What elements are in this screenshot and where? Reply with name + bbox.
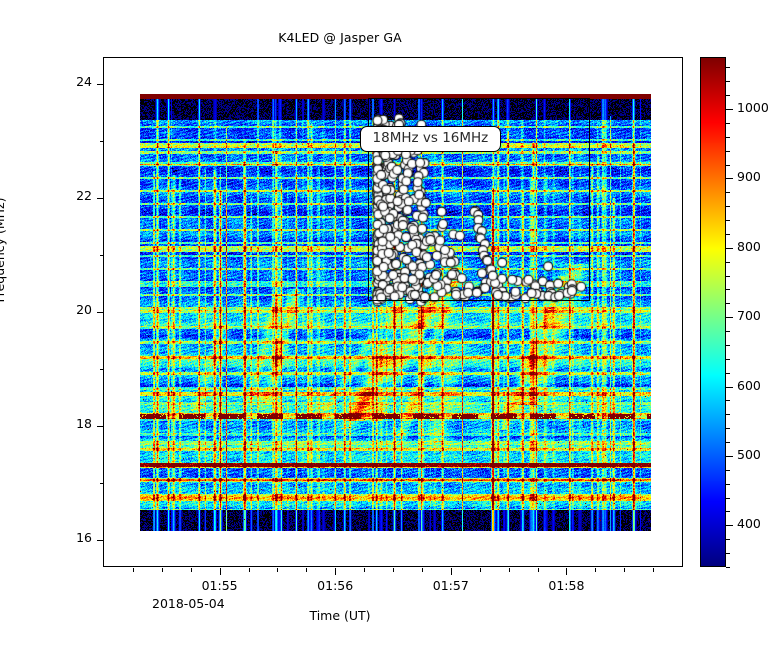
colorbar-tick-major — [726, 456, 733, 457]
x-tick-minor — [538, 568, 539, 572]
x-tick-label: 01:56 — [295, 578, 375, 593]
y-tick-label: 18 — [52, 416, 92, 431]
x-tick-label: 01:58 — [526, 578, 606, 593]
y-tick-major — [97, 312, 104, 313]
x-tick-minor — [277, 568, 278, 572]
x-tick-major — [451, 568, 452, 575]
colorbar-tick-minor — [726, 165, 730, 166]
colorbar-tick-minor — [726, 484, 730, 485]
y-tick-minor — [100, 483, 104, 484]
colorbar-tick-minor — [726, 553, 730, 554]
colorbar-tick-label: 500 — [737, 447, 761, 462]
colorbar-tick-label: 700 — [737, 308, 761, 323]
colorbar-tick-major — [726, 178, 733, 179]
annotation-label: 18MHz vs 16MHz — [360, 126, 502, 153]
colorbar-tick-minor — [726, 470, 730, 471]
colorbar-tick-minor — [726, 276, 730, 277]
colorbar-tick-minor — [726, 498, 730, 499]
colorbar-tick-minor — [726, 345, 730, 346]
colorbar-tick-minor — [726, 95, 730, 96]
x-tick-minor — [162, 568, 163, 572]
colorbar-tick-label: 400 — [737, 516, 761, 531]
x-tick-minor — [509, 568, 510, 572]
y-tick-minor — [100, 141, 104, 142]
page-title: K4LED @ Jasper GA — [0, 30, 680, 45]
colorbar-tick-label: 800 — [737, 239, 761, 254]
colorbar-tick-minor — [726, 81, 730, 82]
colorbar-tick-minor — [726, 137, 730, 138]
y-tick-major — [97, 198, 104, 199]
colorbar-tick-minor — [726, 289, 730, 290]
y-tick-label: 22 — [52, 188, 92, 203]
colorbar-tick-minor — [726, 400, 730, 401]
x-tick-minor — [595, 568, 596, 572]
colorbar-tick-minor — [726, 262, 730, 263]
x-tick-minor — [422, 568, 423, 572]
x-tick-minor — [133, 568, 134, 572]
colorbar[interactable] — [700, 57, 726, 567]
x-tick-minor — [480, 568, 481, 572]
colorbar-tick-minor — [726, 414, 730, 415]
colorbar-tick-minor — [726, 539, 730, 540]
colorbar-tick-major — [726, 109, 733, 110]
colorbar-tick-minor — [726, 151, 730, 152]
x-tick-major — [220, 568, 221, 575]
y-tick-minor — [100, 369, 104, 370]
colorbar-tick-minor — [726, 234, 730, 235]
x-tick-minor — [393, 568, 394, 572]
x-tick-minor — [653, 568, 654, 572]
x-tick-major — [335, 568, 336, 575]
y-tick-label: 16 — [52, 530, 92, 545]
y-tick-minor — [100, 255, 104, 256]
y-tick-label: 20 — [52, 302, 92, 317]
colorbar-tick-minor — [726, 303, 730, 304]
figure-canvas: K4LED @ Jasper GA 18MHz vs 16MHz 1618202… — [0, 0, 783, 656]
x-tick-minor — [249, 568, 250, 572]
x-tick-minor — [364, 568, 365, 572]
colorbar-tick-minor — [726, 442, 730, 443]
colorbar-tick-major — [726, 525, 733, 526]
x-axis-date-label: 2018-05-04 — [152, 596, 225, 611]
x-axis-title: Time (UT) — [0, 608, 680, 623]
colorbar-tick-major — [726, 248, 733, 249]
y-tick-major — [97, 84, 104, 85]
x-tick-label: 01:55 — [180, 578, 260, 593]
colorbar-tick-minor — [726, 192, 730, 193]
colorbar-tick-minor — [726, 428, 730, 429]
x-tick-minor — [624, 568, 625, 572]
y-tick-label: 24 — [52, 74, 92, 89]
colorbar-tick-minor — [726, 220, 730, 221]
y-tick-major — [97, 540, 104, 541]
x-tick-minor — [191, 568, 192, 572]
y-axis-title: Frequency (MHz) — [0, 160, 7, 340]
colorbar-tick-label: 900 — [737, 169, 761, 184]
colorbar-tick-minor — [726, 373, 730, 374]
x-tick-label: 01:57 — [411, 578, 491, 593]
y-tick-major — [97, 426, 104, 427]
colorbar-tick-minor — [726, 567, 730, 568]
colorbar-tick-major — [726, 387, 733, 388]
plot-area[interactable]: 18MHz vs 16MHz — [103, 57, 683, 567]
x-tick-major — [566, 568, 567, 575]
colorbar-tick-minor — [726, 359, 730, 360]
colorbar-tick-minor — [726, 123, 730, 124]
colorbar-tick-minor — [726, 511, 730, 512]
x-tick-minor — [306, 568, 307, 572]
colorbar-tick-label: 1000 — [737, 100, 769, 115]
colorbar-tick-label: 600 — [737, 378, 761, 393]
colorbar-tick-minor — [726, 67, 730, 68]
colorbar-tick-minor — [726, 331, 730, 332]
colorbar-tick-minor — [726, 206, 730, 207]
colorbar-tick-major — [726, 317, 733, 318]
